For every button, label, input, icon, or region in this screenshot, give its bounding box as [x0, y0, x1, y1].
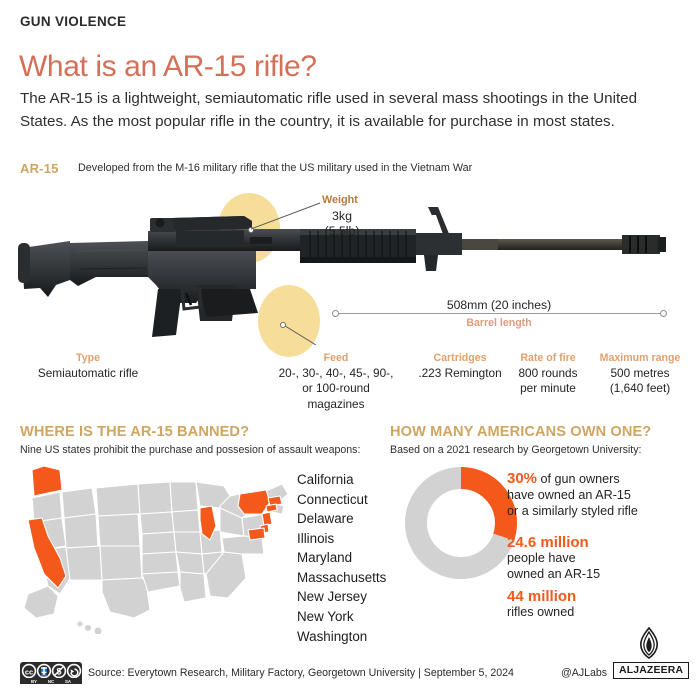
spec-feed-title: Feed	[266, 352, 406, 364]
state-alaska	[24, 586, 58, 618]
barrel-length-cap-left	[332, 310, 339, 317]
state-hawaii-3	[94, 627, 102, 634]
list-item: California	[297, 470, 386, 490]
stat-people-value: 24.6 million	[507, 534, 600, 551]
state-maryland-highlight	[248, 528, 265, 540]
state-nebraska	[142, 532, 176, 554]
state-minnesota	[170, 482, 198, 512]
rifle-description: Developed from the M-16 military rifle t…	[78, 162, 472, 174]
spec-rate-of-fire-value: 800 roundsper minute	[500, 366, 596, 397]
list-item: Delaware	[297, 509, 386, 529]
state-iowa	[172, 510, 200, 532]
ownership-section-subtitle: Based on a 2021 research by Georgetown U…	[390, 444, 641, 456]
spec-feed-value: 20-, 30-, 40-, 45-, 90-,or 100-roundmaga…	[266, 366, 406, 412]
state-washington-highlight	[32, 466, 62, 496]
banned-section-title: WHERE IS THE AR-15 BANNED?	[20, 424, 249, 440]
spec-maximum-range-value: 500 metres(1,640 feet)	[588, 366, 692, 397]
banned-states-list: California Connecticut Delaware Illinois…	[297, 470, 386, 646]
spec-rate-of-fire: Rate of fire 800 roundsper minute	[500, 352, 596, 397]
spec-type-title: Type	[8, 352, 168, 364]
state-newyork-highlight	[238, 490, 270, 514]
barrel-length-line	[334, 313, 664, 314]
callout-title-weight: Weight	[322, 194, 358, 206]
stat-rifles-value: 44 million	[507, 588, 576, 605]
svg-text:cc: cc	[25, 667, 33, 676]
callout-dot-weight	[248, 227, 254, 233]
list-item: Connecticut	[297, 490, 386, 510]
state-utah-idaho	[64, 514, 98, 548]
list-item: Illinois	[297, 529, 386, 549]
barrel-length-label: Barrel length	[334, 317, 664, 329]
spec-rate-of-fire-title: Rate of fire	[500, 352, 596, 364]
svg-text:BY: BY	[31, 679, 37, 684]
state-arkansas	[176, 552, 204, 574]
spec-feed: Feed 20-, 30-, 40-, 45-, 90-,or 100-roun…	[266, 352, 406, 412]
state-colorado	[100, 546, 142, 580]
state-oklahoma	[142, 572, 180, 592]
social-handle: @AJLabs	[561, 667, 607, 679]
stat-people-lines: people haveowned an AR-15	[507, 551, 600, 583]
list-item: New Jersey	[297, 587, 386, 607]
svg-text:SA: SA	[65, 679, 72, 684]
stat-people-owned: 24.6 million people haveowned an AR-15	[507, 534, 600, 583]
state-louisiana	[180, 572, 206, 602]
rifle-name-label: AR-15	[20, 161, 59, 176]
state-missouri	[174, 532, 202, 554]
state-southdakota	[140, 512, 174, 534]
state-idaho-north	[62, 488, 96, 518]
spec-maximum-range-title: Maximum range	[588, 352, 692, 364]
spec-cartridges-value: .223 Remington	[405, 366, 515, 381]
barrel-length-cap-right	[660, 310, 667, 317]
stat-percent-lines: have owned an AR-15or a similarly styled…	[507, 488, 638, 520]
list-item: Washington	[297, 627, 386, 647]
stat-rifles-owned: 44 million rifles owned	[507, 588, 576, 621]
state-wyoming	[98, 514, 140, 546]
weight-value-kg: 3kg	[310, 209, 374, 224]
stat-rifles-lines: rifles owned	[507, 605, 576, 621]
state-newmexico-region	[66, 546, 102, 580]
ownership-section-title: HOW MANY AMERICANS OWN ONE?	[390, 424, 651, 440]
standfirst-text: The AR-15 is a lightweight, semiautomati…	[20, 87, 682, 133]
state-hawaii-1	[77, 621, 83, 627]
spec-cartridges-title: Cartridges	[405, 352, 515, 364]
stat-percent-inline: of gun owners	[537, 472, 620, 486]
aljazeera-wordmark: ALJAZEERA	[613, 662, 689, 679]
page-title: What is an AR-15 rifle?	[19, 50, 317, 85]
state-northdakota	[138, 482, 172, 514]
list-item: New York	[297, 607, 386, 627]
spec-maximum-range: Maximum range 500 metres(1,640 feet)	[588, 352, 692, 397]
state-texas	[102, 578, 150, 618]
state-connecticut-highlight	[266, 504, 277, 512]
list-item: Maryland	[297, 548, 386, 568]
aljazeera-flame-logo-icon	[636, 627, 662, 659]
state-montana	[96, 484, 140, 516]
spec-type: Type Semiautomatic rifle	[8, 352, 168, 381]
state-hawaii-2	[85, 625, 92, 632]
spec-type-value: Semiautomatic rifle	[8, 366, 168, 381]
source-credit: Source: Everytown Research, Military Fac…	[88, 667, 514, 679]
svg-text:NC: NC	[48, 679, 55, 684]
ownership-donut-chart	[400, 462, 522, 584]
kicker-label: GUN VIOLENCE	[20, 14, 126, 29]
state-oregon	[32, 492, 62, 522]
callout-dot-feed	[280, 322, 286, 328]
banned-section-subtitle: Nine US states prohibit the purchase and…	[20, 444, 360, 456]
barrel-length-value: 508mm (20 inches)	[334, 298, 664, 312]
callout-value-weight: 3kg (5.5lb)	[310, 209, 374, 239]
creative-commons-badge-icon: cc 👤 $ BY NC SA	[20, 662, 82, 684]
weight-value-lb: (5.5lb)	[310, 224, 374, 239]
us-map	[14, 462, 299, 634]
stat-percent-owned: 30% of gun owners have owned an AR-15or …	[507, 470, 638, 520]
infographic-root: GUN VIOLENCE What is an AR-15 rifle? The…	[0, 0, 696, 696]
spec-cartridges: Cartridges .223 Remington	[405, 352, 515, 381]
stat-percent-value: 30%	[507, 470, 537, 487]
state-kansas	[142, 552, 178, 574]
list-item: Massachusetts	[297, 568, 386, 588]
